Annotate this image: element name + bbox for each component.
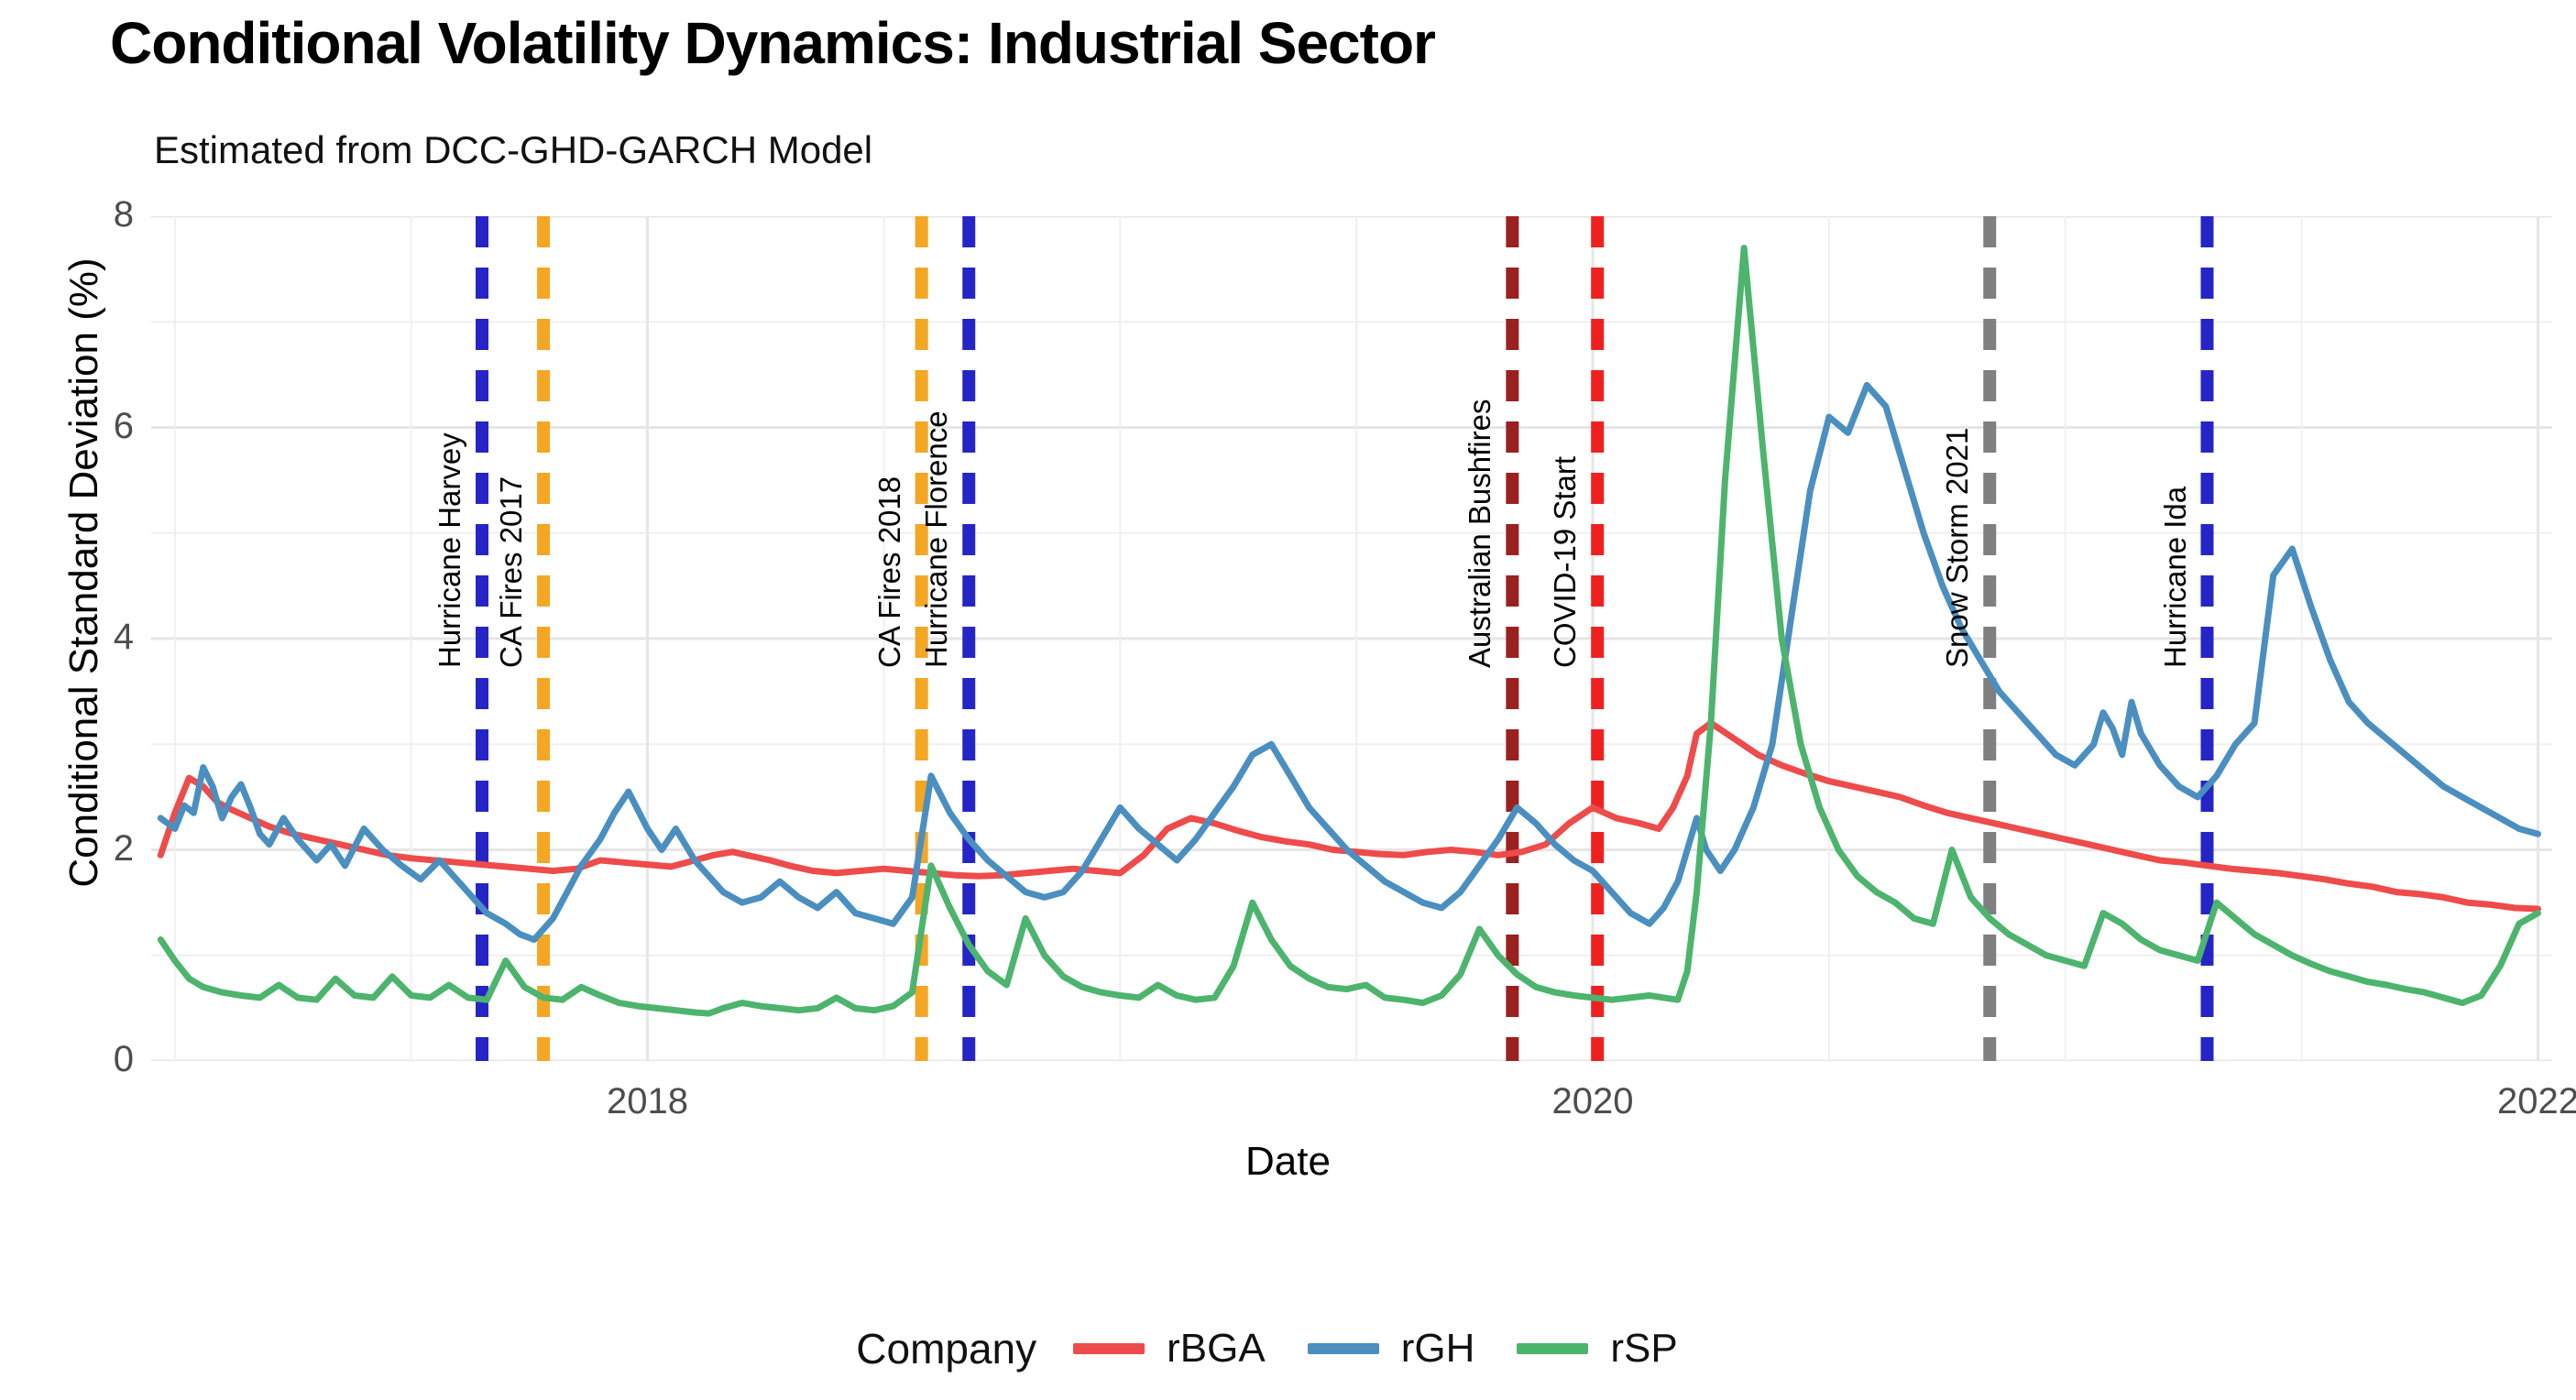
chart-legend: Company rBGArGHrSP bbox=[0, 1312, 2576, 1385]
legend-items: rBGArGHrSP bbox=[1073, 1326, 1720, 1372]
y-tick-label: 6 bbox=[55, 408, 134, 444]
event-label: COVID-19 Start bbox=[1548, 456, 1583, 668]
legend-label: rSP bbox=[1610, 1326, 1677, 1372]
x-tick-label: 2020 bbox=[1552, 1081, 1634, 1122]
event-label: Hurricane Ida bbox=[2158, 487, 2193, 668]
legend-label: rGH bbox=[1401, 1326, 1475, 1372]
chart-title: Conditional Volatility Dynamics: Industr… bbox=[110, 9, 1435, 77]
event-label: Snow Storm 2021 bbox=[1940, 428, 1975, 668]
y-tick-label: 2 bbox=[55, 830, 134, 867]
y-tick-label: 8 bbox=[55, 196, 134, 233]
event-label: CA Fires 2017 bbox=[494, 476, 529, 668]
y-axis-tick-labels: 02468 bbox=[55, 0, 134, 1400]
legend-item-rGH[interactable]: rGH bbox=[1308, 1326, 1475, 1372]
x-axis-title: Date bbox=[0, 1139, 2576, 1185]
legend-label: rBGA bbox=[1167, 1326, 1266, 1372]
x-tick-label: 2022 bbox=[2497, 1081, 2576, 1122]
y-tick-label: 0 bbox=[55, 1041, 134, 1077]
chart-figure: Conditional Volatility Dynamics: Industr… bbox=[0, 0, 2576, 1400]
legend-color-swatch bbox=[1073, 1343, 1145, 1354]
y-tick-label: 4 bbox=[55, 618, 134, 655]
legend-title: Company bbox=[856, 1324, 1036, 1373]
event-label: Australian Bushfires bbox=[1463, 399, 1497, 668]
x-tick-label: 2018 bbox=[607, 1081, 688, 1122]
chart-subtitle: Estimated from DCC-GHD-GARCH Model bbox=[154, 128, 872, 172]
event-label: CA Fires 2018 bbox=[872, 476, 907, 668]
legend-item-rBGA[interactable]: rBGA bbox=[1073, 1326, 1266, 1372]
legend-color-swatch bbox=[1308, 1343, 1379, 1354]
legend-item-rSP[interactable]: rSP bbox=[1517, 1326, 1677, 1372]
legend-color-swatch bbox=[1517, 1343, 1588, 1354]
event-label: Hurricane Harvey bbox=[433, 432, 467, 668]
event-label: Hurricane Florence bbox=[919, 411, 954, 669]
